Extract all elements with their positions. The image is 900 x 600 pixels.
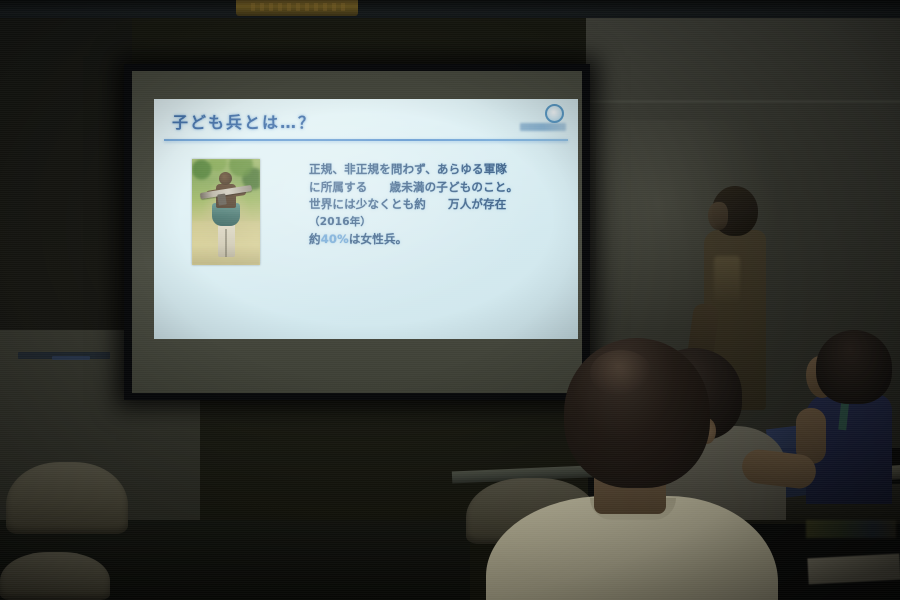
- photo-head: [219, 172, 232, 185]
- student-foreground: [486, 338, 816, 600]
- chair-left-front: [6, 462, 128, 534]
- presentation-slide: 子ども兵とは…？: [154, 99, 578, 339]
- slide-body-line-5: 約40%は女性兵。: [309, 231, 559, 249]
- organization-logo: [520, 104, 566, 134]
- photo-leg-gap: [225, 229, 227, 257]
- slide-body-line-2: に所属する歳未満の子どものこと。: [309, 179, 559, 197]
- logo-ring-icon: [545, 104, 564, 123]
- slide-title-rule: [164, 139, 568, 141]
- desk-papers: [807, 554, 900, 585]
- chair-left-lower: [0, 552, 110, 600]
- slide-title: 子ども兵とは…？: [172, 109, 316, 133]
- presenter-shirt-highlight: [714, 256, 740, 302]
- slide-photo-child-soldier: [192, 159, 260, 265]
- slide-body-text: 正規、非正規を問わず、あらゆる軍隊 に所属する歳未満の子どものこと。 世界には少…: [309, 161, 559, 249]
- percent-highlight: 40%: [321, 232, 349, 246]
- photo-rifle-magazine: [217, 193, 227, 205]
- slide-body-line-4: （2016年）: [309, 214, 559, 232]
- presenter-face: [708, 202, 728, 230]
- student-foreground-hair-sheen: [590, 350, 652, 396]
- slide-body-line-1: 正規、非正規を問わず、あらゆる軍隊: [309, 161, 559, 179]
- slide-body-line-3: 世界には少なくとも約万人が存在: [309, 196, 559, 214]
- logo-wordmark: [520, 123, 566, 131]
- marker: [52, 356, 90, 360]
- lecture-room: 子ども兵とは…？: [0, 0, 900, 600]
- projector-vent: [246, 3, 346, 11]
- whiteboard-edge: [586, 100, 900, 103]
